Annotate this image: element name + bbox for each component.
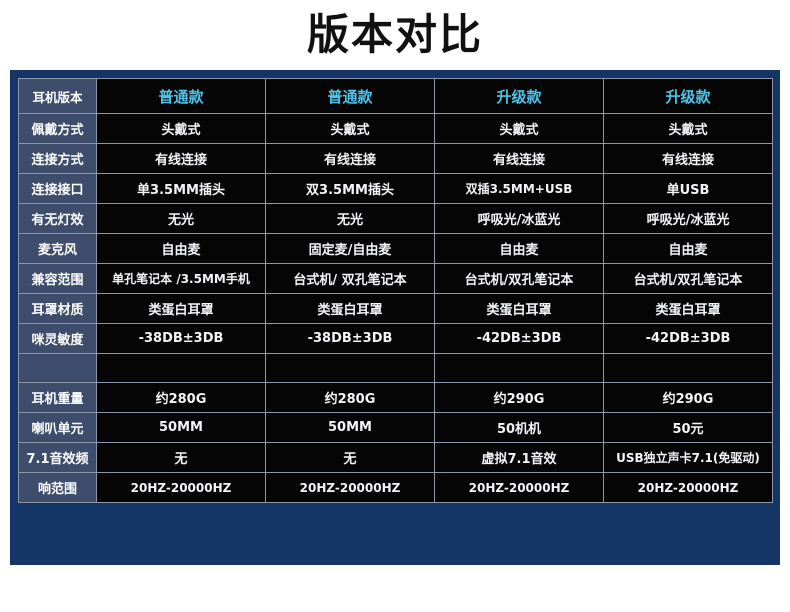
table-cell: -38DB±3DB (97, 324, 266, 354)
table-cell: 50元 (604, 413, 773, 443)
table-cell: 无 (97, 443, 266, 473)
table-cell: 类蛋白耳罩 (266, 294, 435, 324)
row-label: 7.1音效频 (19, 443, 97, 473)
table-blank-row (19, 354, 773, 383)
table-cell: 类蛋白耳罩 (604, 294, 773, 324)
table-cell (604, 354, 773, 383)
table-cell: 虚拟7.1音效 (435, 443, 604, 473)
comparison-page: 版本对比 耳机版本普通款普通款升级款升级款佩戴方式头戴式头戴式头戴式头戴式连接方… (0, 0, 790, 612)
table-row: 耳机重量约280G约280G约290G约290G (19, 383, 773, 413)
table-cell: 类蛋白耳罩 (97, 294, 266, 324)
row-label (19, 354, 97, 383)
table-header-row: 耳机版本普通款普通款升级款升级款 (19, 79, 773, 114)
table-header-cell-3: 升级款 (435, 79, 604, 114)
table-cell: 20HZ-20000HZ (435, 473, 604, 503)
table-cell: 头戴式 (604, 114, 773, 144)
table-cell (435, 354, 604, 383)
row-label: 兼容范围 (19, 264, 97, 294)
page-title: 版本对比 (307, 14, 483, 56)
table-cell: 头戴式 (266, 114, 435, 144)
table-cell: 有线连接 (97, 144, 266, 174)
table-cell: 自由麦 (604, 234, 773, 264)
table-cell: -42DB±3DB (604, 324, 773, 354)
table-cell: 无光 (266, 204, 435, 234)
table-cell: 有线连接 (266, 144, 435, 174)
table-cell: -42DB±3DB (435, 324, 604, 354)
table-cell: 50机机 (435, 413, 604, 443)
table-header-cell-1: 普通款 (97, 79, 266, 114)
row-label: 响范围 (19, 473, 97, 503)
table-cell: 无 (266, 443, 435, 473)
table-row: 耳罩材质类蛋白耳罩类蛋白耳罩类蛋白耳罩类蛋白耳罩 (19, 294, 773, 324)
table-cell: 自由麦 (97, 234, 266, 264)
table-row: 连接方式有线连接有线连接有线连接有线连接 (19, 144, 773, 174)
table-cell: 20HZ-20000HZ (266, 473, 435, 503)
table-cell (266, 354, 435, 383)
table-cell: 单3.5MM插头 (97, 174, 266, 204)
row-label: 喇叭单元 (19, 413, 97, 443)
table-cell: 自由麦 (435, 234, 604, 264)
table-row: 麦克风自由麦固定麦/自由麦自由麦自由麦 (19, 234, 773, 264)
row-label: 耳机重量 (19, 383, 97, 413)
row-label: 连接接口 (19, 174, 97, 204)
table-cell: 有线连接 (435, 144, 604, 174)
table-row: 咪灵敏度-38DB±3DB-38DB±3DB-42DB±3DB-42DB±3DB (19, 324, 773, 354)
table-cell: 台式机/双孔笔记本 (435, 264, 604, 294)
version-comparison-table: 耳机版本普通款普通款升级款升级款佩戴方式头戴式头戴式头戴式头戴式连接方式有线连接… (18, 78, 773, 503)
table-cell: 有线连接 (604, 144, 773, 174)
row-label: 咪灵敏度 (19, 324, 97, 354)
table-cell: 呼吸光/冰蓝光 (435, 204, 604, 234)
row-label: 佩戴方式 (19, 114, 97, 144)
table-cell: USB独立声卡7.1(免驱动) (604, 443, 773, 473)
table-cell: 50MM (266, 413, 435, 443)
table-cell: 20HZ-20000HZ (97, 473, 266, 503)
table-cell: 50MM (97, 413, 266, 443)
table-cell: 约290G (604, 383, 773, 413)
table-cell: 20HZ-20000HZ (604, 473, 773, 503)
table-cell: -38DB±3DB (266, 324, 435, 354)
table-cell: 单孔笔记本 /3.5MM手机 (97, 264, 266, 294)
table-row: 7.1音效频无无虚拟7.1音效USB独立声卡7.1(免驱动) (19, 443, 773, 473)
row-label: 连接方式 (19, 144, 97, 174)
row-label: 麦克风 (19, 234, 97, 264)
table-cell (97, 354, 266, 383)
comparison-panel: 耳机版本普通款普通款升级款升级款佩戴方式头戴式头戴式头戴式头戴式连接方式有线连接… (10, 70, 780, 565)
table-cell: 无光 (97, 204, 266, 234)
comparison-panel-inner: 耳机版本普通款普通款升级款升级款佩戴方式头戴式头戴式头戴式头戴式连接方式有线连接… (18, 78, 772, 503)
row-label: 耳罩材质 (19, 294, 97, 324)
table-header-label: 耳机版本 (19, 79, 97, 114)
table-row: 响范围20HZ-20000HZ20HZ-20000HZ20HZ-20000HZ2… (19, 473, 773, 503)
table-cell: 固定麦/自由麦 (266, 234, 435, 264)
table-header-cell-2: 普通款 (266, 79, 435, 114)
table-cell: 头戴式 (435, 114, 604, 144)
table-cell: 呼吸光/冰蓝光 (604, 204, 773, 234)
table-row: 连接接口单3.5MM插头双3.5MM插头双插3.5MM+USB单USB (19, 174, 773, 204)
table-row: 喇叭单元50MM50MM50机机50元 (19, 413, 773, 443)
table-cell: 台式机/ 双孔笔记本 (266, 264, 435, 294)
table-cell: 单USB (604, 174, 773, 204)
table-row: 兼容范围单孔笔记本 /3.5MM手机台式机/ 双孔笔记本台式机/双孔笔记本台式机… (19, 264, 773, 294)
table-cell: 头戴式 (97, 114, 266, 144)
table-cell: 约280G (266, 383, 435, 413)
table-header-cell-4: 升级款 (604, 79, 773, 114)
table-cell: 约280G (97, 383, 266, 413)
table-cell: 类蛋白耳罩 (435, 294, 604, 324)
table-cell: 双插3.5MM+USB (435, 174, 604, 204)
table-cell: 双3.5MM插头 (266, 174, 435, 204)
table-row: 有无灯效无光无光呼吸光/冰蓝光呼吸光/冰蓝光 (19, 204, 773, 234)
title-area: 版本对比 (0, 0, 790, 70)
table-cell: 约290G (435, 383, 604, 413)
table-row: 佩戴方式头戴式头戴式头戴式头戴式 (19, 114, 773, 144)
row-label: 有无灯效 (19, 204, 97, 234)
table-cell: 台式机/双孔笔记本 (604, 264, 773, 294)
